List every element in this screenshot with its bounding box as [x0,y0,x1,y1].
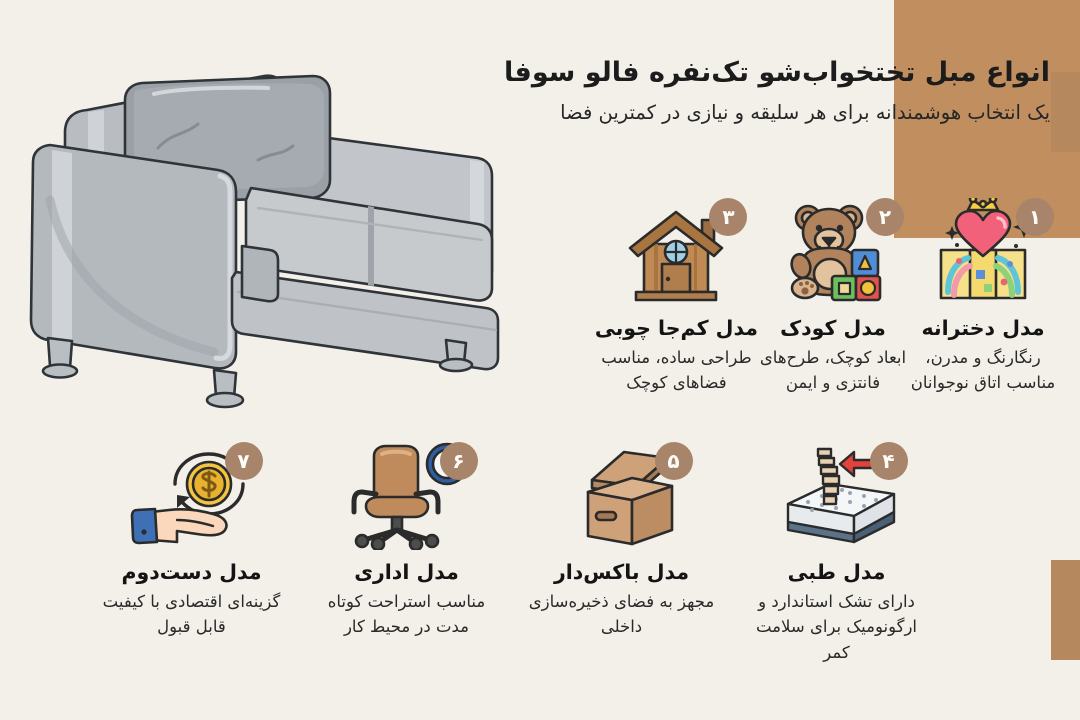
feature-card-1[interactable]: ۱ [908,196,1058,396]
feature-7-title: مدل دست‌دوم [121,559,261,586]
feature-3-title: مدل کم‌جا چوبی [595,315,758,342]
feature-3-number-badge: ۳ [709,198,747,236]
feature-5-number-badge: ۵ [655,442,693,480]
feature-7-desc: گزینه‌ای اقتصادی با کیفیت قابل قبول [97,589,287,640]
feature-2-icon-wrap: ۲ [758,196,908,306]
feature-6-number-badge: ۶ [440,442,478,480]
feature-3-desc: طراحی ساده، مناسب فضاهای کوچک [595,345,758,396]
feature-card-4[interactable]: ۴ [729,440,944,665]
features-row-top: ۱ [638,196,1058,396]
feature-7-number-badge: ۷ [225,442,263,480]
feature-5-title: مدل باکس‌دار [554,559,689,586]
feature-2-number-badge: ۲ [866,198,904,236]
infographic-canvas: انواع مبل تختخواب‌شو تک‌نفره فالو سوفا ی… [0,0,1080,720]
feature-1-title: مدل دخترانه [921,315,1044,342]
feature-4-number-badge: ۴ [870,442,908,480]
feature-1-number-badge: ۱ [1016,198,1054,236]
feature-5-icon-wrap: ۵ [547,440,697,550]
features-row-bottom: ۴ [24,440,944,665]
feature-card-5[interactable]: ۵ [514,440,729,665]
feature-6-title: مدل اداری [354,559,459,586]
feature-6-desc: مناسب استراحت کوتاه مدت در محیط کار [312,589,502,640]
accent-bar-top-right [1051,72,1080,152]
feature-5-desc: مجهز به فضای ذخیره‌سازی داخلی [527,589,717,640]
feature-card-2[interactable]: ۲ [758,196,908,396]
feature-4-desc: دارای تشک استاندارد و ارگونومیک برای سلا… [742,589,932,666]
feature-4-title: مدل طبی [788,559,886,586]
feature-6-icon-wrap: ۶ [332,440,482,550]
feature-1-desc: رنگارنگ و مدرن، مناسب اتاق نوجوانان [908,345,1058,396]
header-block: انواع مبل تختخواب‌شو تک‌نفره فالو سوفا ی… [430,55,1050,128]
feature-2-title: مدل کودک [780,315,886,342]
feature-3-icon-wrap: ۳ [601,196,751,306]
feature-4-icon-wrap: ۴ [762,440,912,550]
feature-card-7[interactable]: ۷ [84,440,299,665]
accent-bar-bottom-right [1051,560,1080,660]
page-title: انواع مبل تختخواب‌شو تک‌نفره فالو سوفا [430,55,1050,91]
feature-2-desc: ابعاد کوچک، طرح‌های فانتزی و ایمن [758,345,908,396]
feature-card-6[interactable]: ۶ [299,440,514,665]
page-subtitle: یک انتخاب هوشمندانه برای هر سلیقه و نیاز… [430,98,1050,127]
feature-7-icon-wrap: ۷ [117,440,267,550]
feature-card-3[interactable]: ۳ [595,196,758,396]
feature-1-icon-wrap: ۱ [908,196,1058,306]
